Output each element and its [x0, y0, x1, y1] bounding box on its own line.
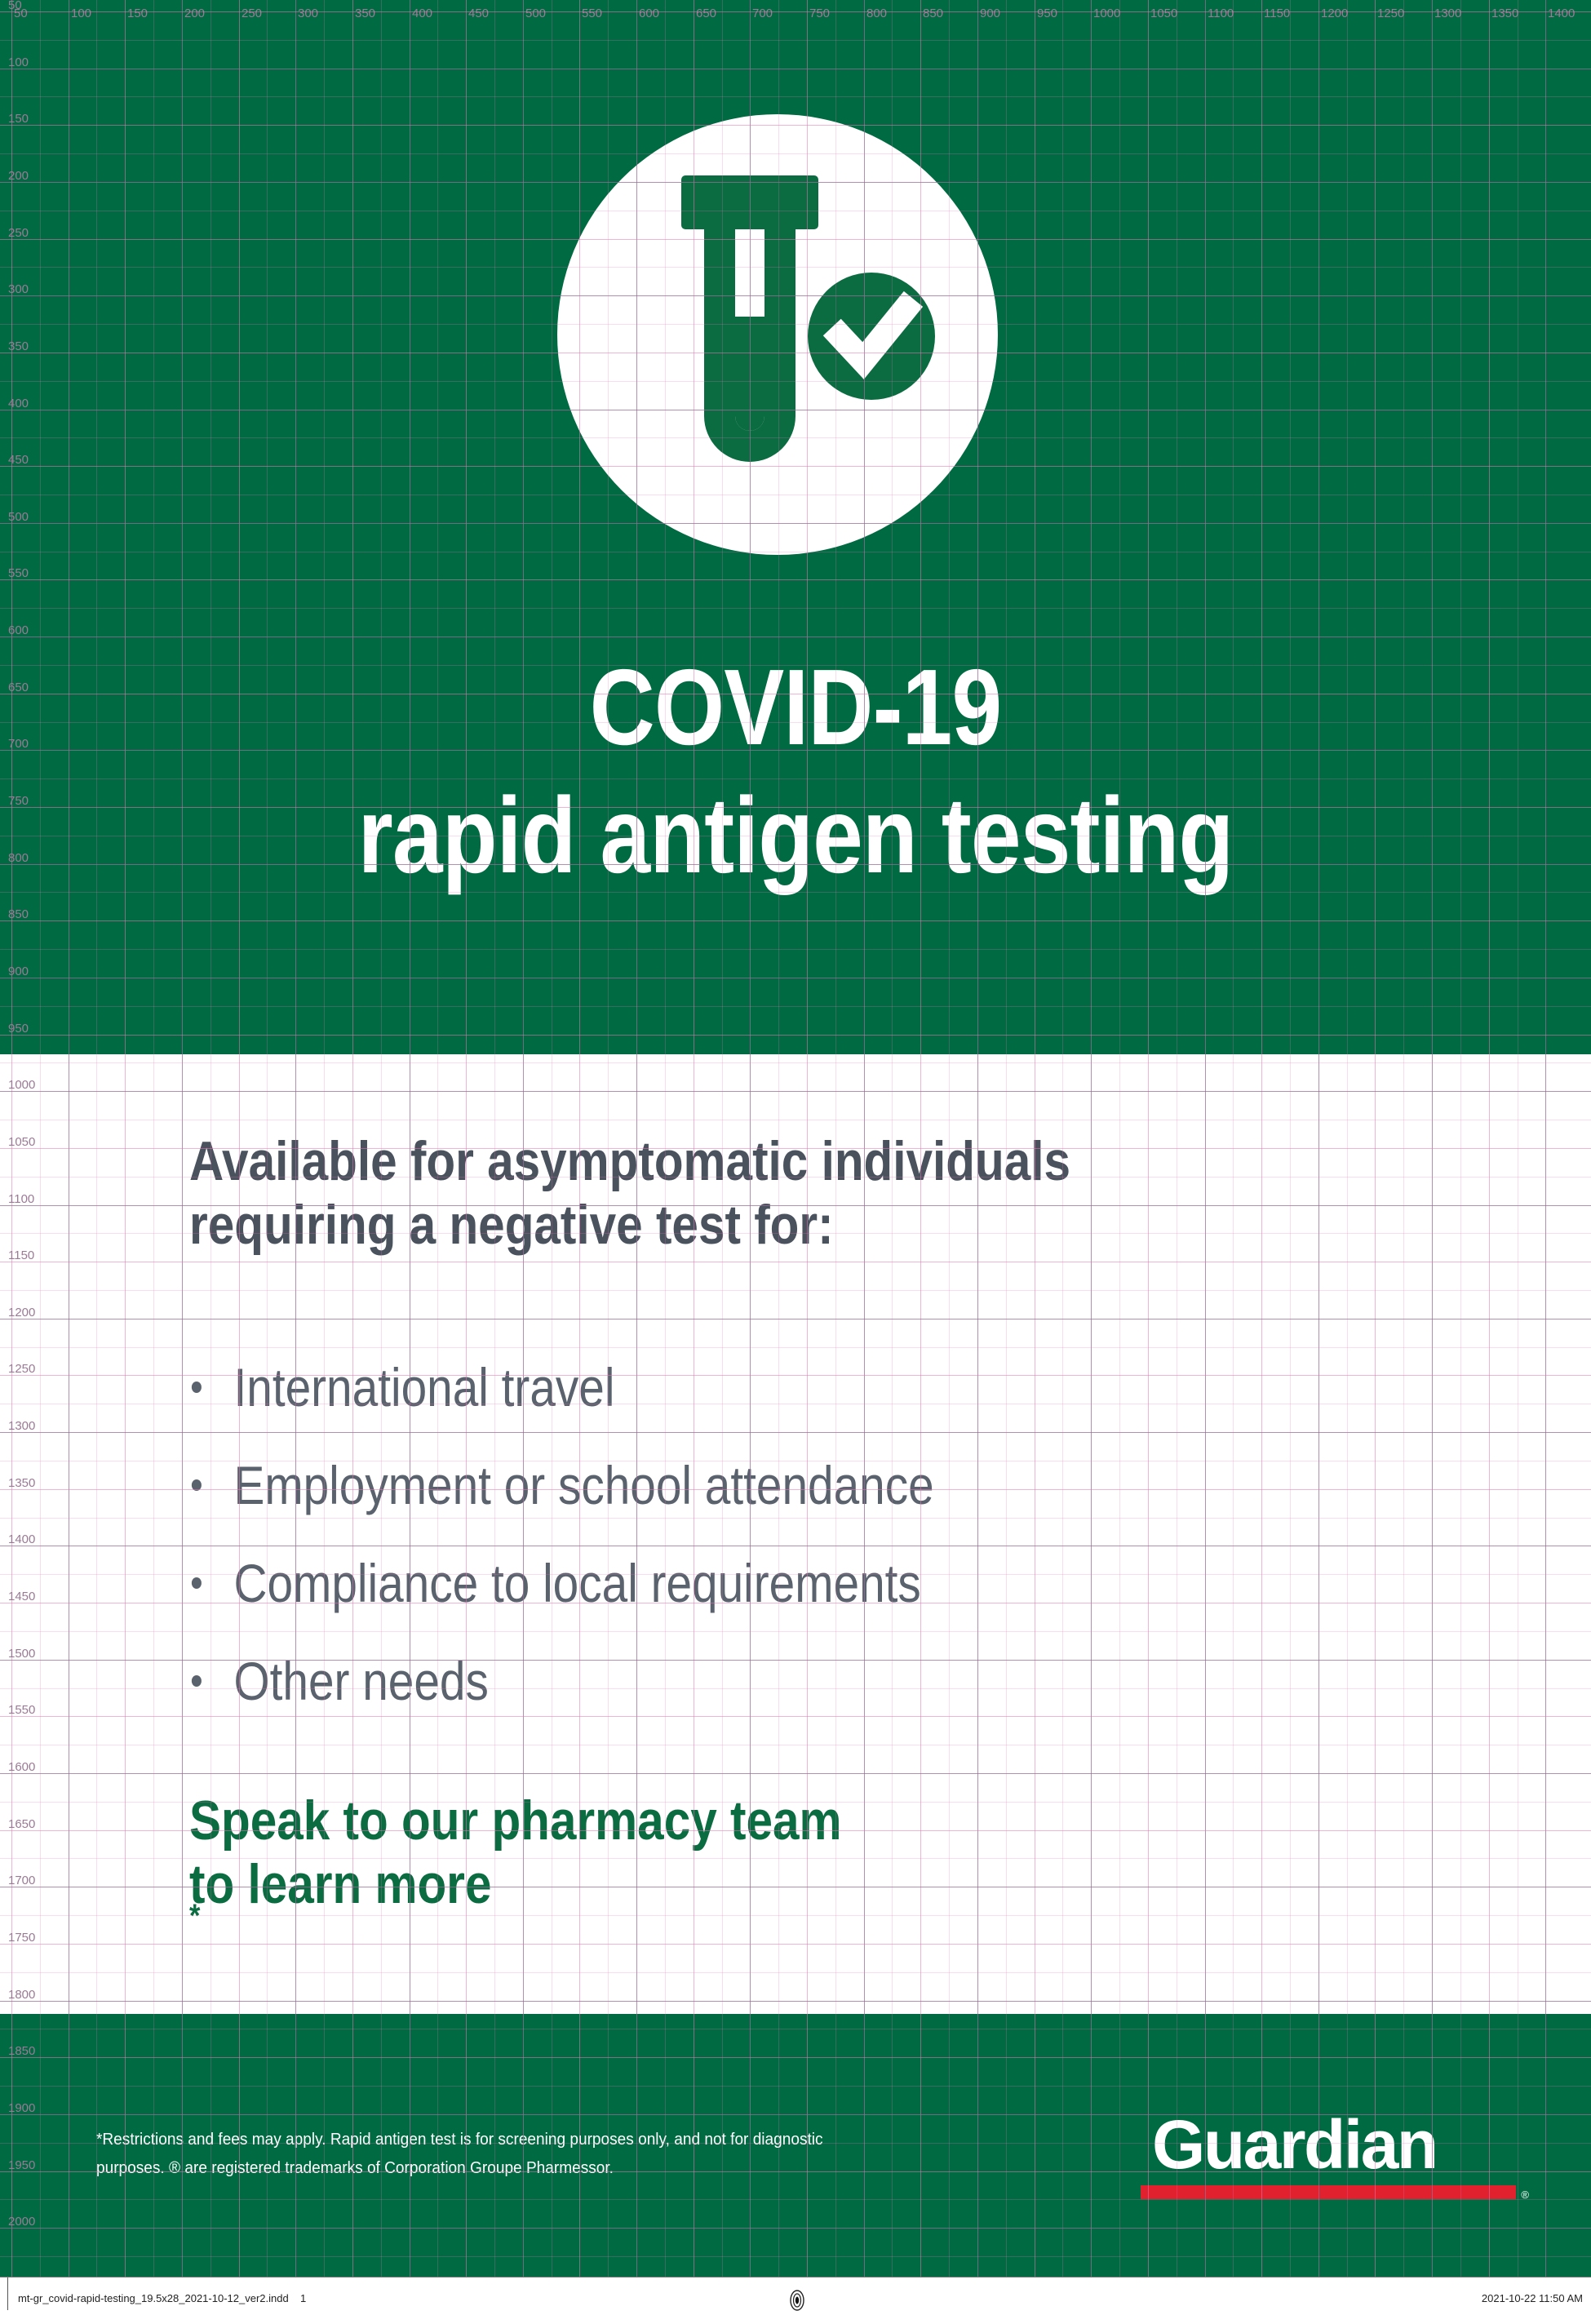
list-item-label: Other needs	[233, 1651, 488, 1711]
grid-hline-minor	[0, 1972, 1591, 1973]
grid-hline-minor	[0, 1290, 1591, 1291]
grid-label-y: 1050	[8, 1135, 35, 1149]
disclaimer-line-1: *Restrictions and fees may apply. Rapid …	[96, 2125, 878, 2153]
poster-artwork: COVID-19 rapid antigen testing Available…	[0, 0, 1591, 2277]
grid-hline-minor	[0, 1062, 1591, 1063]
crop-tick-mark	[7, 2277, 8, 2310]
bullet-dot-icon	[192, 1577, 202, 1589]
grid-label-y: 1150	[8, 1248, 34, 1262]
grid-label-y: 1250	[8, 1362, 35, 1376]
grid-label-y: 1700	[8, 1874, 35, 1887]
grid-label-y: 1300	[8, 1419, 35, 1433]
list-item: International travel	[186, 1338, 1309, 1436]
bullet-dot-icon	[192, 1382, 202, 1393]
grid-label-y: 1200	[8, 1306, 35, 1319]
slug-filename: mt-gr_covid-rapid-testing_19.5x28_2021-1…	[18, 2292, 289, 2304]
benefits-list: International travel Employment or schoo…	[186, 1338, 1309, 1730]
legal-disclaimer: *Restrictions and fees may apply. Rapid …	[96, 2125, 878, 2183]
grid-label-y: 1400	[8, 1532, 35, 1546]
proof-slug-bar: mt-gr_covid-rapid-testing_19.5x28_2021-1…	[0, 2277, 1591, 2324]
grid-hline	[0, 1944, 1591, 1945]
list-item: Other needs	[186, 1632, 1309, 1730]
grid-hline	[0, 1091, 1591, 1092]
cta-line-2-wrap: to learn more*	[189, 1852, 1172, 1916]
disclaimer-line-2: purposes. ® are registered trademarks of…	[96, 2153, 878, 2182]
guardian-logo: Guardian ®	[1141, 2110, 1516, 2199]
body-heading-line-2: requiring a negative test for:	[189, 1194, 1284, 1257]
list-item: Compliance to local requirements	[186, 1534, 1309, 1632]
call-to-action: Speak to our pharmacy team to learn more…	[189, 1789, 1172, 1916]
grid-label-y: 1100	[8, 1192, 34, 1206]
proof-page: COVID-19 rapid antigen testing Available…	[0, 0, 1591, 2324]
cta-line-1: Speak to our pharmacy team	[189, 1789, 1172, 1852]
list-item-label: International travel	[233, 1357, 614, 1417]
list-item-label: Employment or school attendance	[233, 1455, 933, 1515]
grid-label-y: 1650	[8, 1817, 35, 1831]
body-heading: Available for asymptomatic individuals r…	[189, 1130, 1284, 1257]
list-item: Employment or school attendance	[186, 1436, 1309, 1534]
grid-label-y: 1800	[8, 1988, 35, 2002]
grid-label-y: 1500	[8, 1647, 35, 1661]
bullet-dot-icon	[192, 1675, 202, 1687]
guardian-wordmark: Guardian	[1141, 2110, 1516, 2179]
body-heading-line-1: Available for asymptomatic individuals	[189, 1130, 1284, 1194]
slug-page-number: 1	[300, 2292, 306, 2304]
headline-line-2: rapid antigen testing	[127, 781, 1464, 891]
grid-hline	[0, 1773, 1591, 1774]
bullet-dot-icon	[192, 1479, 202, 1491]
test-tube-check-icon	[557, 114, 998, 555]
grid-label-y: 1550	[8, 1703, 35, 1717]
grid-label-y: 1000	[8, 1078, 35, 1092]
grid-hline	[0, 1262, 1591, 1262]
registered-trademark-mark: ®	[1521, 2189, 1529, 2201]
guardian-logo-rule: ®	[1141, 2185, 1516, 2199]
grid-label-y: 1750	[8, 1931, 35, 1945]
list-item-label: Compliance to local requirements	[233, 1553, 920, 1613]
poster-headline: COVID-19 rapid antigen testing	[0, 653, 1591, 890]
slug-timestamp: 2021-10-22 11:50 AM	[1482, 2292, 1583, 2304]
registration-target-icon	[790, 2290, 804, 2311]
grid-hline	[0, 1319, 1591, 1319]
cta-line-2: to learn more	[189, 1852, 1172, 1916]
grid-hline-minor	[0, 1120, 1591, 1120]
headline-line-1: COVID-19	[127, 653, 1464, 763]
grid-hline-minor	[0, 1745, 1591, 1745]
grid-hline	[0, 2001, 1591, 2002]
grid-label-y: 1450	[8, 1590, 35, 1603]
grid-label-y: 1350	[8, 1476, 35, 1490]
grid-label-y: 1600	[8, 1760, 35, 1774]
